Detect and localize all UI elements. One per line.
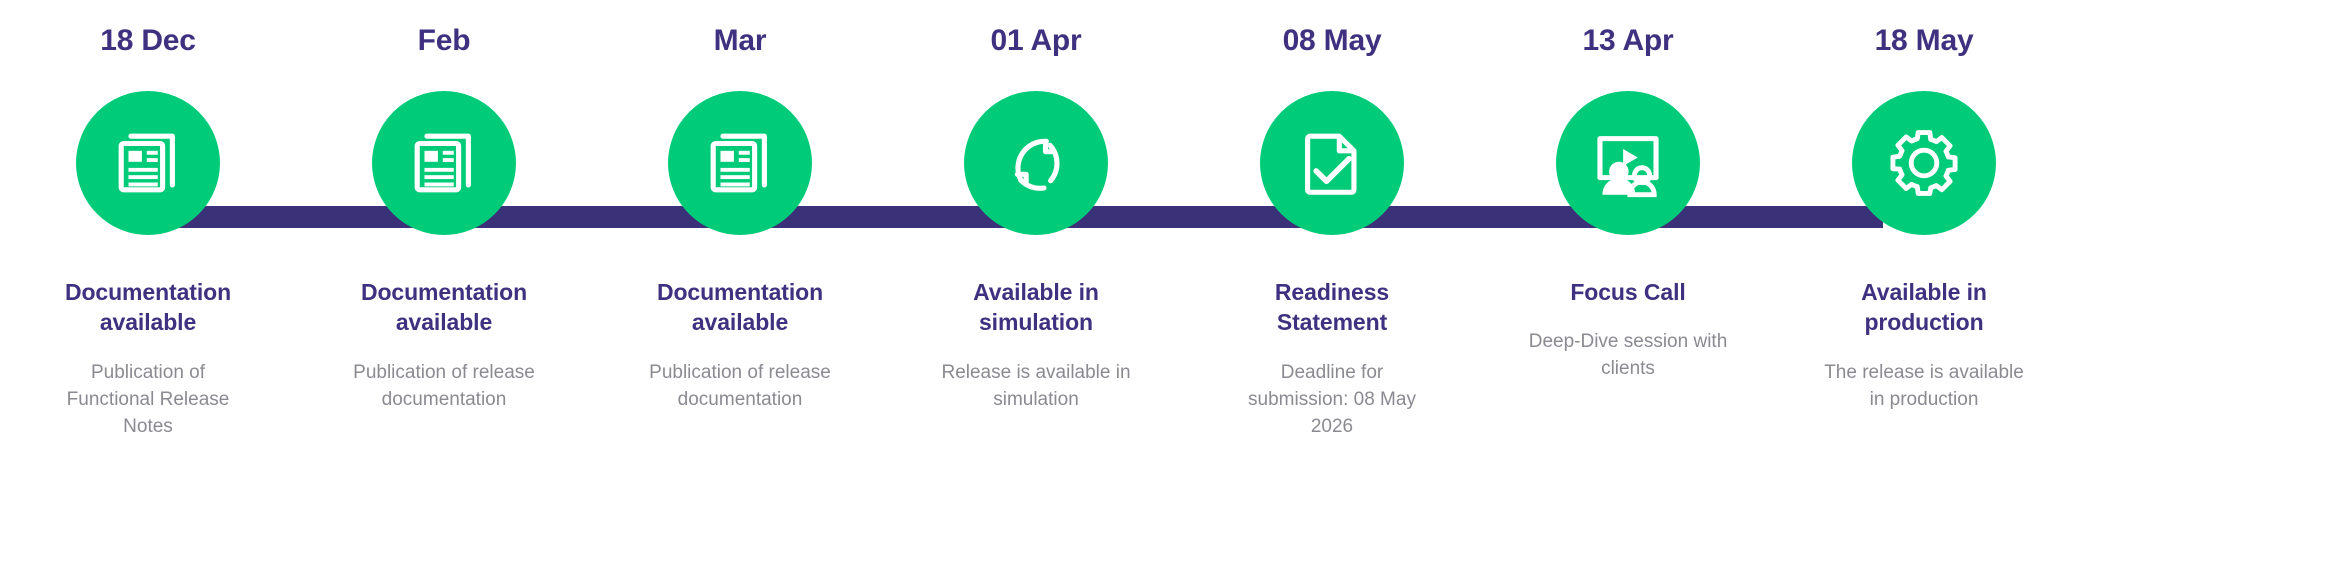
document-check-icon: [1293, 124, 1371, 202]
step-description: Release is available in simulation: [934, 360, 1139, 414]
step-marker[interactable]: [668, 91, 812, 235]
timeline-step[interactable]: 18 Dec Documentation availa: [0, 0, 296, 441]
step-marker[interactable]: [372, 91, 516, 235]
step-title: Available in production: [1809, 277, 2039, 338]
step-description: Publication of release documentation: [638, 360, 843, 414]
sync-refresh-icon: [997, 124, 1075, 202]
step-marker[interactable]: [964, 91, 1108, 235]
step-description: Publication of release documentation: [342, 360, 547, 414]
step-marker[interactable]: [1556, 91, 1700, 235]
step-description: The release is available in production: [1822, 360, 2027, 414]
step-date: 13 Apr: [1582, 26, 1673, 60]
step-date: 08 May: [1283, 26, 1382, 60]
timeline-step[interactable]: Mar Documentation available: [592, 0, 888, 414]
release-timeline: 18 Dec Documentation availa: [0, 0, 2330, 578]
timeline-step[interactable]: 18 May Available in production The relea…: [1776, 0, 2072, 414]
step-date: Feb: [418, 26, 471, 60]
step-date: 18 May: [1875, 26, 1974, 60]
step-title: Readiness Statement: [1217, 277, 1447, 338]
news-document-icon: [109, 124, 187, 202]
timeline-step[interactable]: Feb Documentation available: [296, 0, 592, 414]
step-date: 18 Dec: [100, 26, 196, 60]
step-marker[interactable]: [1852, 91, 1996, 235]
step-description: Deadline for submission: 08 May 2026: [1230, 360, 1435, 441]
news-document-icon: [701, 124, 779, 202]
step-title: Focus Call: [1570, 277, 1685, 307]
step-marker[interactable]: [1260, 91, 1404, 235]
step-date: 01 Apr: [990, 26, 1081, 60]
gear-settings-icon: [1885, 124, 1963, 202]
step-title: Documentation available: [33, 277, 263, 338]
step-date: Mar: [714, 26, 767, 60]
step-title: Documentation available: [329, 277, 559, 338]
news-document-icon: [405, 124, 483, 202]
step-title: Documentation available: [625, 277, 855, 338]
timeline-step[interactable]: 08 May Readiness Statement Deadline for …: [1184, 0, 1480, 441]
webinar-presentation-icon: [1589, 124, 1667, 202]
step-title: Available in simulation: [921, 277, 1151, 338]
step-marker[interactable]: [76, 91, 220, 235]
timeline-steps: 18 Dec Documentation availa: [0, 0, 2072, 441]
timeline-step[interactable]: 13 Apr Focus Call Deep-Dive session with: [1480, 0, 1776, 383]
timeline-step[interactable]: 01 Apr Available in simulation Release i…: [888, 0, 1184, 414]
step-description: Deep-Dive session with clients: [1526, 329, 1731, 383]
step-description: Publication of Functional Release Notes: [46, 360, 251, 441]
